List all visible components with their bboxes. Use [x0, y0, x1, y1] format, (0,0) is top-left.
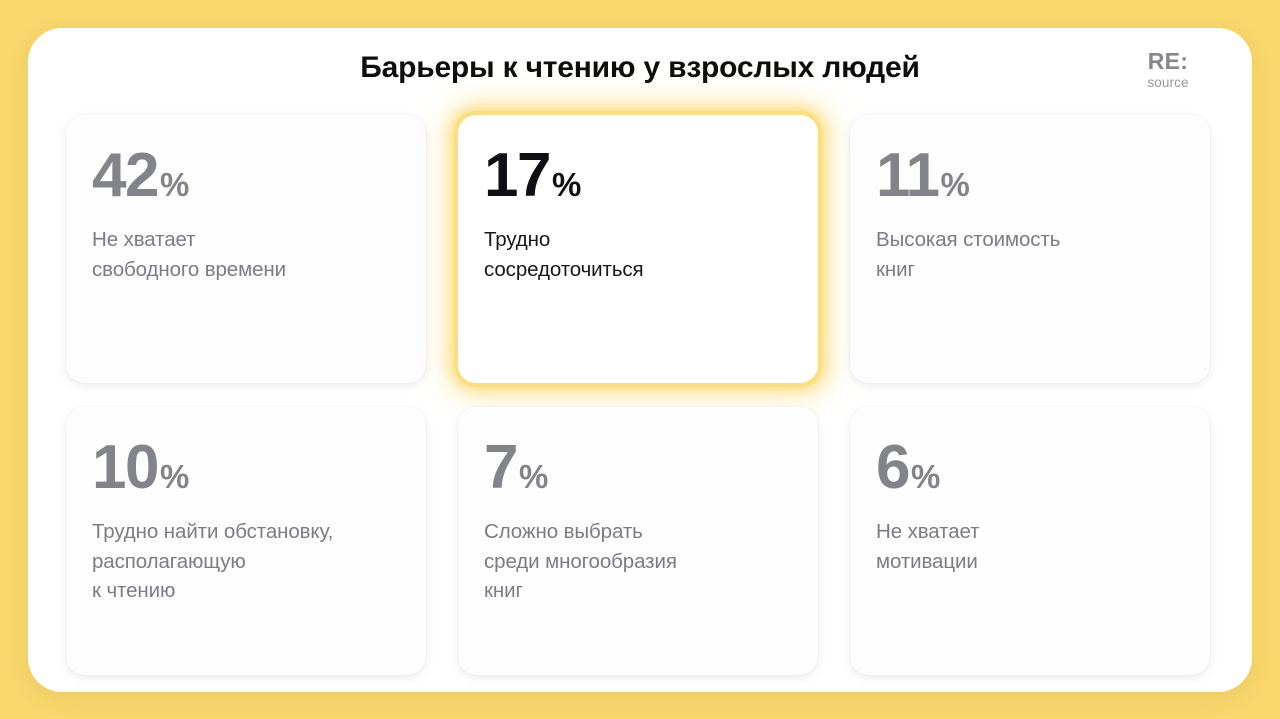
stat-unit: %: [552, 168, 581, 201]
stat-card[interactable]: 6 % Не хватает мотивации: [850, 407, 1210, 675]
stat-unit: %: [911, 460, 940, 493]
stat-value: 17: [484, 145, 550, 207]
stat-card[interactable]: 7 % Сложно выбрать среди многообразия кн…: [458, 407, 818, 675]
stat-label: Высокая стоимость книг: [876, 225, 1184, 284]
stat-value: 42: [92, 145, 158, 207]
main-panel: Барьеры к чтению у взрослых людей RE: so…: [28, 28, 1252, 692]
stat-unit: %: [519, 460, 548, 493]
brand-logo: RE: source: [1108, 50, 1228, 90]
stat-label: Не хватает мотивации: [876, 517, 1184, 576]
stat-unit: %: [160, 460, 189, 493]
stat-label: Трудно найти обстановку, располагающую к…: [92, 517, 400, 606]
stat-card-highlighted[interactable]: 17 % Трудно сосредоточиться: [458, 115, 818, 383]
stat-card[interactable]: 42 % Не хватает свободного времени: [66, 115, 426, 383]
stat-figure: 6 %: [876, 437, 1184, 499]
stat-card[interactable]: 10 % Трудно найти обстановку, располагаю…: [66, 407, 426, 675]
header: Барьеры к чтению у взрослых людей RE: so…: [28, 28, 1252, 106]
stat-value: 7: [484, 437, 517, 499]
stat-label: Трудно сосредоточиться: [484, 225, 792, 284]
stat-unit: %: [941, 168, 970, 201]
stat-figure: 11 %: [876, 145, 1184, 207]
logo-secondary-text: source: [1108, 76, 1228, 90]
stat-card-grid: 42 % Не хватает свободного времени 17 % …: [66, 115, 1214, 675]
stat-figure: 10 %: [92, 437, 400, 499]
stat-unit: %: [160, 168, 189, 201]
stat-figure: 42 %: [92, 145, 400, 207]
stat-figure: 17 %: [484, 145, 792, 207]
page-title: Барьеры к чтению у взрослых людей: [28, 51, 1252, 85]
stat-card[interactable]: 11 % Высокая стоимость книг: [850, 115, 1210, 383]
stat-label: Не хватает свободного времени: [92, 225, 400, 284]
stat-figure: 7 %: [484, 437, 792, 499]
stat-value: 11: [876, 145, 939, 207]
stat-label: Сложно выбрать среди многообразия книг: [484, 517, 792, 606]
stat-value: 6: [876, 437, 909, 499]
stat-value: 10: [92, 437, 158, 499]
logo-primary-text: RE:: [1108, 50, 1228, 73]
